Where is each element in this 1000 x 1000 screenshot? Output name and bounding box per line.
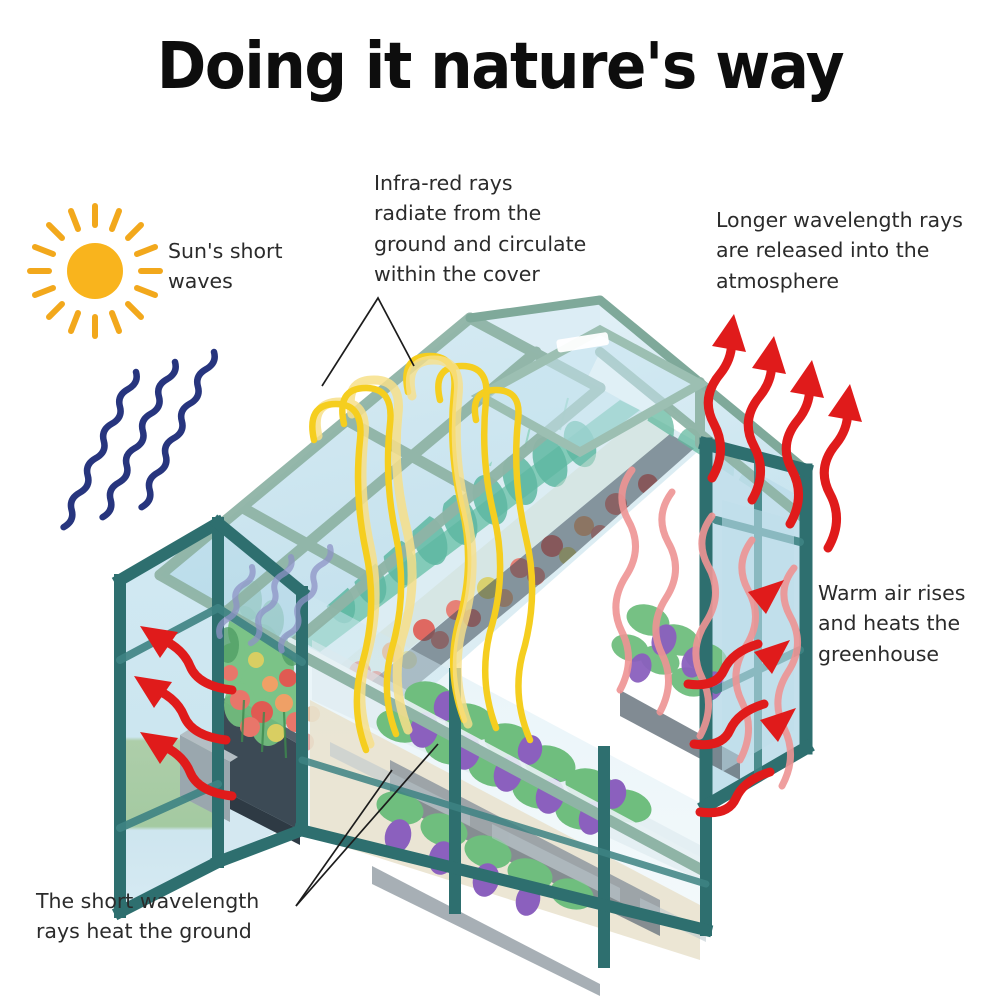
label-longer-wavelength: Longer wavelength rays are released into… [716, 205, 986, 296]
label-short-wavelength-ground: The short wavelength rays heat the groun… [36, 886, 306, 947]
label-warm-air-rises: Warm air rises and heats the greenhouse [818, 578, 1000, 669]
label-infrared-rays: Infra-red rays radiate from the ground a… [374, 168, 619, 289]
label-sun-short-waves: Sun's short waves [168, 236, 348, 297]
infographic-canvas: Doing it nature's way [0, 0, 1000, 1000]
sun-icon [30, 206, 160, 336]
greenhouse-illustration [0, 0, 1000, 1000]
